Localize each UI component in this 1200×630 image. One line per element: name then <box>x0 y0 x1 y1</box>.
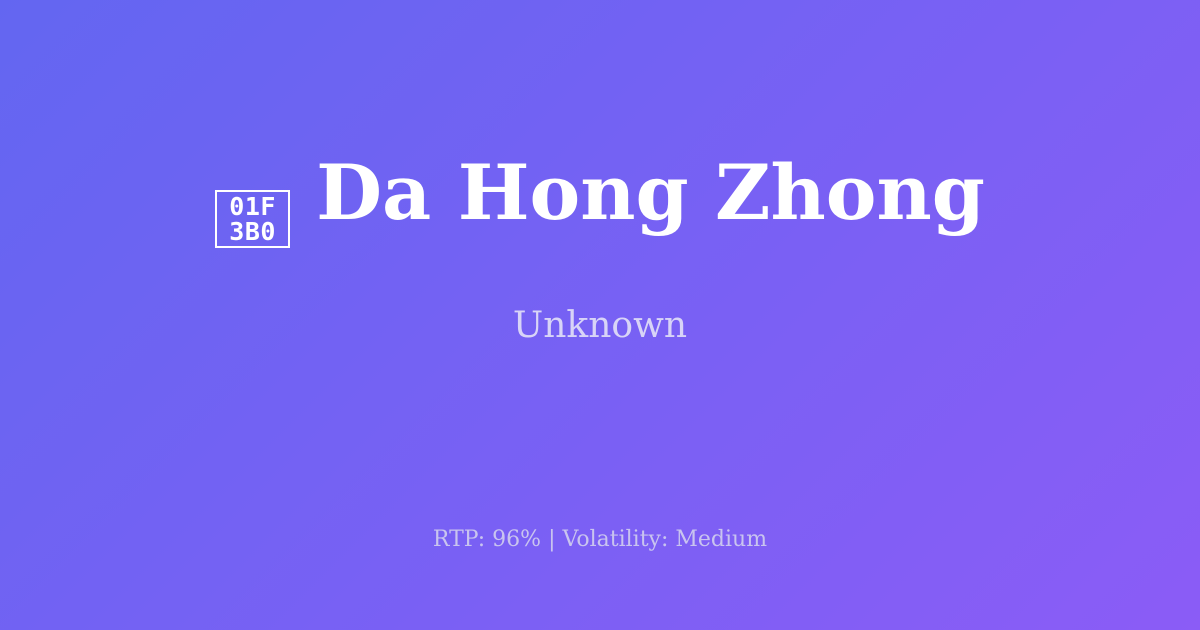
game-info-card: 01F 3B0 Da Hong Zhong Unknown RTP: 96% |… <box>0 0 1200 630</box>
page-title: Da Hong Zhong <box>316 153 985 233</box>
slot-machine-icon-codepoint-bottom: 3B0 <box>229 219 276 244</box>
title-row: 01F 3B0 Da Hong Zhong <box>215 153 985 252</box>
card-footer: RTP: 96% | Volatility: Medium <box>0 500 1200 630</box>
slot-machine-icon: 01F 3B0 <box>215 190 290 248</box>
card-subtitle: Unknown <box>513 304 687 347</box>
game-stats-meta: RTP: 96% | Volatility: Medium <box>433 526 767 555</box>
hero-block: 01F 3B0 Da Hong Zhong Unknown <box>0 0 1200 500</box>
slot-machine-icon-codepoint-top: 01F <box>229 194 276 219</box>
